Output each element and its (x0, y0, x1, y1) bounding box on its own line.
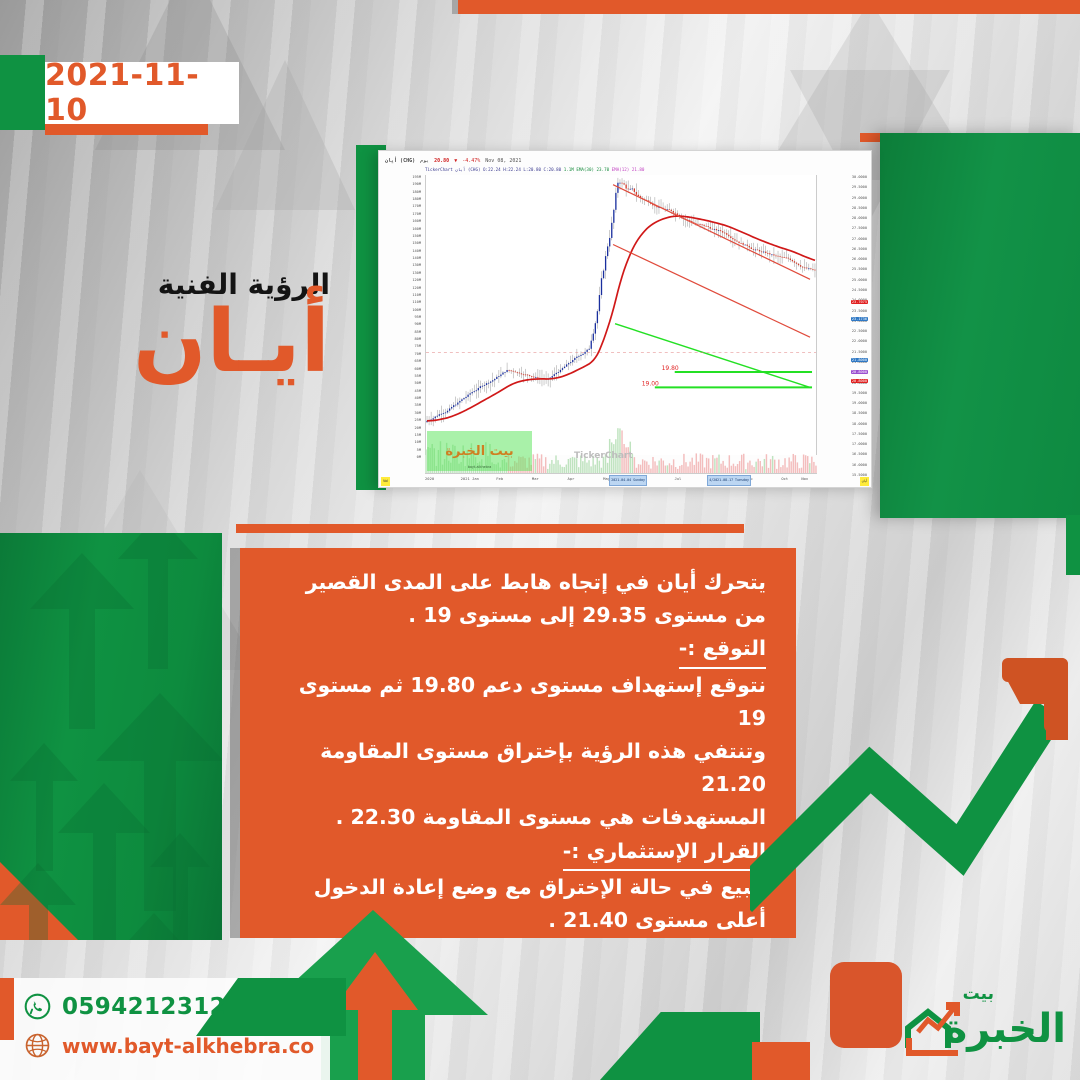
time-tick: Feb (496, 476, 503, 481)
price-tick: 22.0000 (852, 339, 867, 343)
orange-rounded-square (830, 962, 902, 1048)
logo-word-top: بيت (963, 984, 994, 1004)
chart-corner-left: Vol (381, 477, 390, 486)
forecast-line: وتنتفي هذه الرؤية بإختراق مستوى المقاومة… (264, 735, 766, 801)
price-tick: 25.5000 (852, 267, 867, 271)
volume-tick: 150M (383, 234, 421, 238)
chart-corner-right: أيان (860, 477, 869, 486)
logo-word-main: الخبرة (944, 1006, 1066, 1052)
volume-tick: 190M (383, 182, 421, 186)
decorative-arrow (118, 533, 198, 669)
volume-tick: 150M (383, 241, 421, 245)
volume-tick: 85M (383, 330, 421, 334)
volume-tick: 5M (383, 448, 421, 452)
analysis-line: من مستوى 29.35 إلى مستوى 19 . (264, 599, 766, 632)
volume-tick: 140M (383, 256, 421, 260)
body-divider (236, 524, 744, 533)
time-tick: 2020 (425, 476, 434, 481)
analysis-text-block: يتحرك أيان في إتجاه هابط على المدى القصي… (240, 548, 796, 938)
volume-tick: 80M (383, 337, 421, 341)
page-title: أيـان (20, 297, 330, 387)
volume-tick: 70M (383, 352, 421, 356)
time-tick: Nov (801, 476, 808, 481)
chart-watermark: بيت الخبرة bayt-alkhebra (427, 431, 532, 471)
whatsapp-icon (24, 993, 51, 1020)
volume-tick: 95M (383, 315, 421, 319)
time-tick: Apr (568, 476, 575, 481)
decorative-arrow (0, 863, 76, 940)
volume-tick: 160M (383, 219, 421, 223)
headline-group: الرؤية الفنية أيـان (20, 270, 330, 387)
svg-text:19.00: 19.00 (642, 380, 659, 387)
chart-last-price: 20.80 (434, 158, 449, 164)
chart-symbol: أيان (CHG) (385, 158, 415, 164)
footer-orange-edge (0, 978, 14, 1040)
chart-header: أيان (CHG) يوم 20.80 ▼ -4.47% Nov 08, 20… (385, 155, 867, 166)
volume-tick: 120M (383, 278, 421, 282)
date-text: 2021-11-10 (45, 58, 239, 128)
chart-ma1: EMA(30) 23.70 (576, 167, 609, 172)
chart-watermark-sub: bayt-alkhebra (468, 465, 492, 469)
volume-tick: 60M (383, 367, 421, 371)
volume-tick: 180M (383, 197, 421, 201)
stock-chart: أيان (CHG) يوم 20.80 ▼ -4.47% Nov 08, 20… (378, 150, 872, 488)
volume-tick: 120M (383, 286, 421, 290)
chart-change-arrow: ▼ (454, 158, 457, 164)
decorative-arrow (110, 913, 198, 940)
price-tick: 27.0000 (852, 237, 867, 241)
poster-canvas: 2021-11-10 الرؤية الفنية أيـان أيان (CHG… (0, 0, 1080, 1080)
chart-series-svg: 19.8019.00 (426, 175, 816, 455)
volume-tick: 30M (383, 411, 421, 415)
price-tick: 18.5000 (852, 411, 867, 415)
time-tick: Mar (532, 476, 539, 481)
volume-tick: 160M (383, 227, 421, 231)
volume-tick: 195M (383, 175, 421, 179)
price-tick: 17.5000 (852, 432, 867, 436)
right-edge-accent (1066, 515, 1080, 575)
volume-tick: 25M (383, 418, 421, 422)
forecast-line: نتوقع إستهداف مستوى دعم 19.80 ثم مستوى 1… (264, 669, 766, 735)
price-tick: 19.0000 (852, 401, 867, 405)
green-arrow-panel (0, 533, 222, 940)
right-green-slab (880, 133, 1080, 518)
price-tick: 30.0000 (852, 175, 867, 179)
contact-website-row[interactable]: www.bayt-alkhebra.co (24, 1032, 314, 1059)
forecast-line: المستهدفات هي مستوى المقاومة 22.30 . (264, 801, 766, 834)
price-tick: 27.5000 (852, 226, 867, 230)
volume-tick: 170M (383, 212, 421, 216)
volume-tick: 65M (383, 359, 421, 363)
website-url: www.bayt-alkhebra.co (62, 1034, 314, 1058)
chart-change-pct: -4.47% (462, 158, 480, 164)
price-badge: 20.8000 (851, 379, 868, 383)
price-badge: 20.8000 (851, 370, 868, 374)
chart-ma2: EMA(12) 21.80 (612, 167, 645, 172)
chart-source: TickerChart (425, 167, 453, 172)
time-highlight: 4/2021-08-17 Tuesday (707, 475, 751, 486)
top-orange-banner (458, 0, 1080, 14)
volume-tick: 40M (383, 396, 421, 400)
price-badge: 21.8000 (851, 358, 868, 362)
chart-series: أيان (CHG) (455, 167, 480, 172)
svg-text:19.80: 19.80 (662, 365, 679, 372)
volume-tick: 75M (383, 344, 421, 348)
volume-tick: 100M (383, 308, 421, 312)
chart-price-axis: 30.000029.500029.000028.500028.000027.50… (819, 175, 869, 473)
volume-tick: 180M (383, 190, 421, 194)
chart-period: يوم (420, 158, 429, 164)
volume-tick: 130M (383, 271, 421, 275)
price-tick: 25.0000 (852, 278, 867, 282)
price-tick: 28.5000 (852, 206, 867, 210)
volume-tick: 35M (383, 403, 421, 407)
volume-tick: 50M (383, 381, 421, 385)
volume-tick: 55M (383, 374, 421, 378)
price-tick: 17.0000 (852, 442, 867, 446)
chart-plot-area: 19.8019.00 (425, 175, 817, 455)
price-tick: 22.5000 (852, 329, 867, 333)
globe-icon (24, 1032, 51, 1059)
phone-number: 0594212312 (62, 994, 226, 1020)
contact-phone-row[interactable]: 0594212312 (24, 993, 226, 1020)
chart-date: Nov 08, 2021 (485, 158, 521, 164)
volume-tick: 0M (383, 455, 421, 459)
price-tick: 16.0000 (852, 463, 867, 467)
price-tick: 23.5000 (852, 309, 867, 313)
price-tick: 19.5000 (852, 391, 867, 395)
price-badge: 23.7075 (851, 300, 868, 304)
chart-tool-watermark: TickerChart (574, 451, 633, 461)
volume-tick: 140M (383, 249, 421, 253)
brand-logo: بيت الخبرة (898, 986, 1068, 1068)
decision-heading: القرار الإستثماري :- (563, 835, 766, 871)
price-tick: 29.5000 (852, 185, 867, 189)
date-green-accent (0, 55, 45, 130)
date-underline (45, 124, 208, 135)
price-badge: 23.1736 (851, 317, 868, 321)
volume-tick: 110M (383, 293, 421, 297)
price-tick: 29.0000 (852, 196, 867, 200)
decision-line: البيع في حالة الإختراق مع وضع إعادة الدخ… (264, 871, 766, 904)
time-tick: Oct (781, 476, 788, 481)
time-highlight: 2021-04-04 Sunday (609, 475, 647, 486)
price-tick: 18.0000 (852, 422, 867, 426)
analysis-line: يتحرك أيان في إتجاه هابط على المدى القصي… (264, 566, 766, 599)
date-badge: 2021-11-10 (45, 62, 239, 124)
price-tick: 16.5000 (852, 452, 867, 456)
volume-tick: 20M (383, 426, 421, 430)
chart-volume: 1.1M (564, 167, 574, 172)
price-tick: 24.5000 (852, 288, 867, 292)
chart-time-axis: 20202021 JanFebMarAprMayJunJulAugSepOctN… (425, 473, 817, 487)
price-tick: 26.5000 (852, 247, 867, 251)
chart-ohlc: O:22.24 H:22.24 L:20.80 C:20.80 (483, 167, 561, 172)
price-tick: 21.5000 (852, 350, 867, 354)
orange-bottom-square (752, 1042, 810, 1080)
volume-tick: 15M (383, 433, 421, 437)
chart-volume-axis: 195M190M180M180M170M170M160M160M150M150M… (381, 175, 423, 455)
volume-tick: 90M (383, 322, 421, 326)
volume-tick: 170M (383, 204, 421, 208)
volume-tick: 10M (383, 440, 421, 444)
volume-tick: 130M (383, 263, 421, 267)
volume-tick: 110M (383, 300, 421, 304)
price-tick: 28.0000 (852, 216, 867, 220)
price-tick: 26.0000 (852, 257, 867, 261)
volume-tick: 45M (383, 389, 421, 393)
time-tick: Jul (674, 476, 681, 481)
chart-watermark-text: بيت الخبرة (445, 444, 513, 459)
trend-arrow-graphic (750, 600, 1080, 940)
time-tick: 2021 Jan (461, 476, 479, 481)
